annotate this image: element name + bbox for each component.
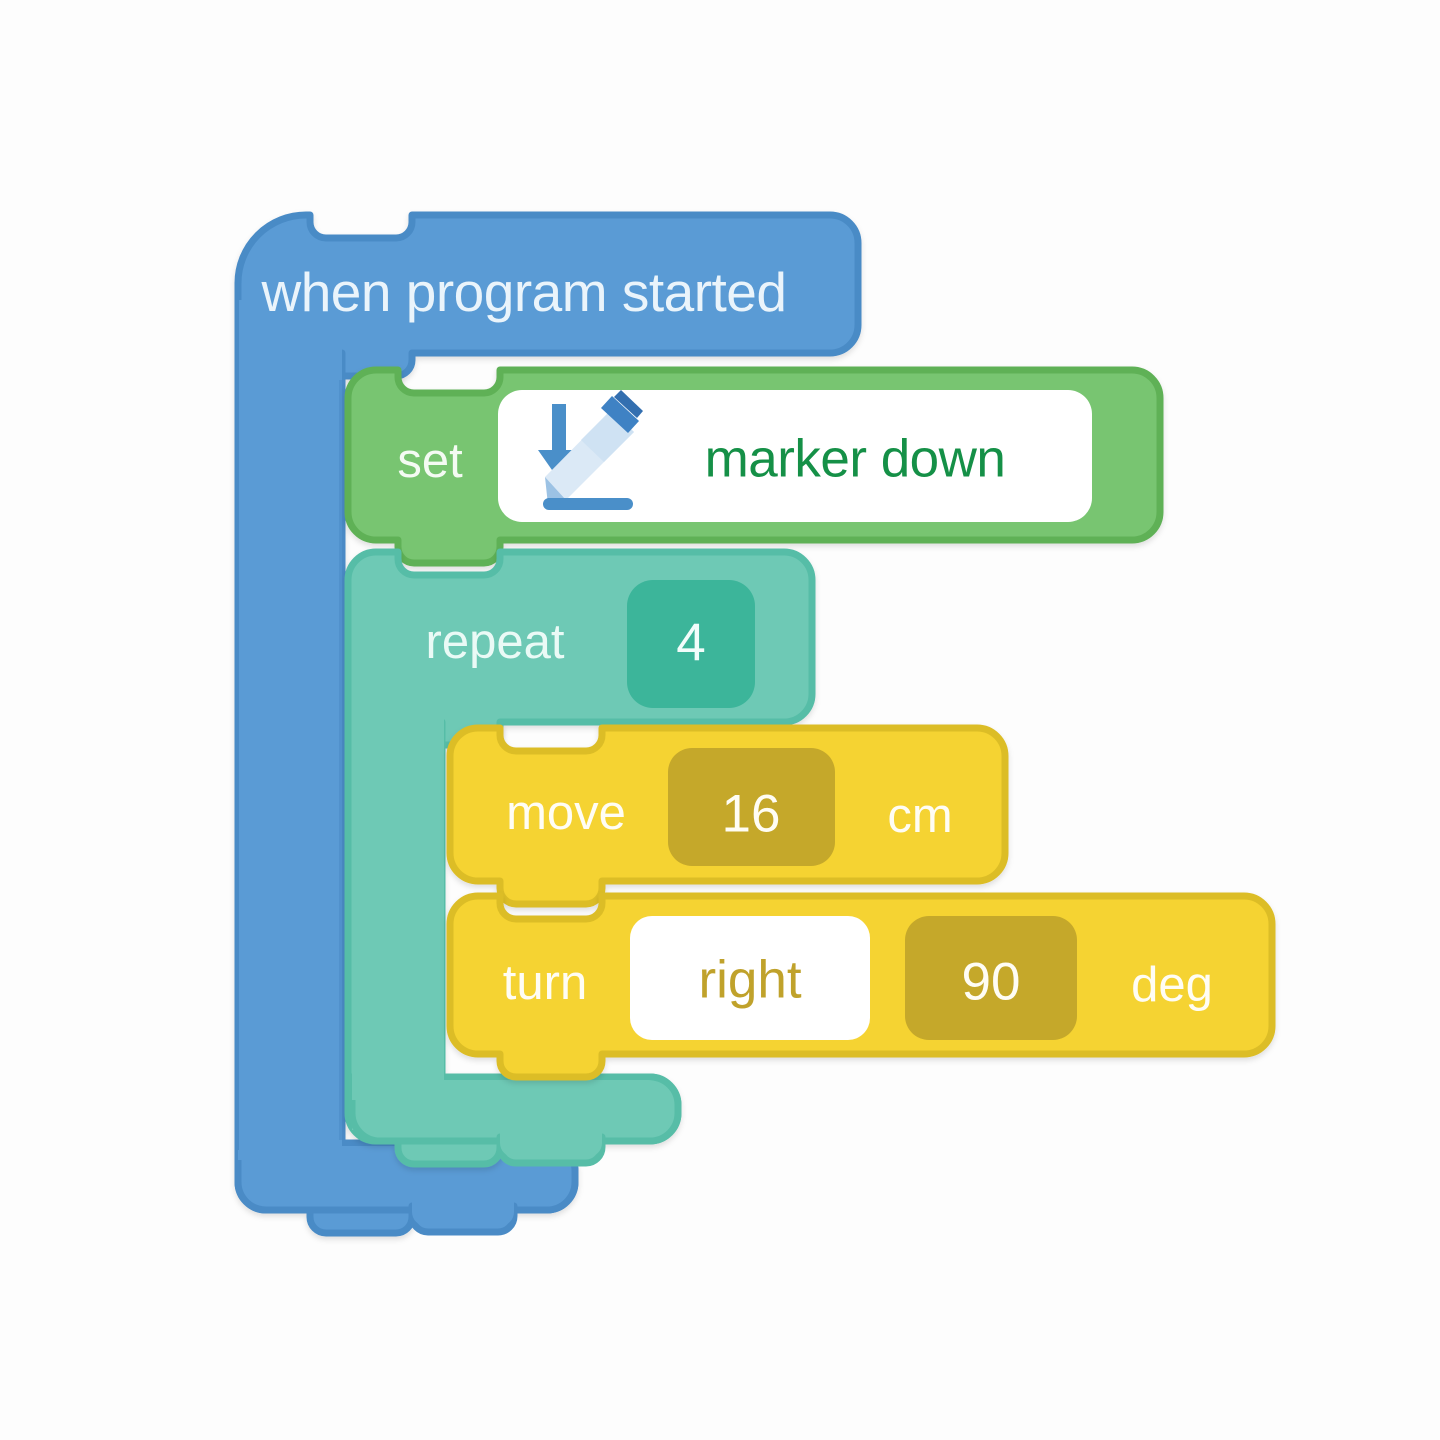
input-repeat-count[interactable] xyxy=(627,580,755,708)
block-move[interactable] xyxy=(450,728,1005,904)
block-turn[interactable] xyxy=(450,896,1272,1077)
input-turn-degrees[interactable] xyxy=(905,916,1077,1040)
dropdown-turn-direction[interactable] xyxy=(630,916,870,1040)
block-shapes-layer xyxy=(0,0,1440,1440)
input-move-distance[interactable] xyxy=(668,748,835,866)
block-set-marker[interactable] xyxy=(348,370,1160,563)
program-canvas: when program started set marker down rep… xyxy=(0,0,1440,1440)
